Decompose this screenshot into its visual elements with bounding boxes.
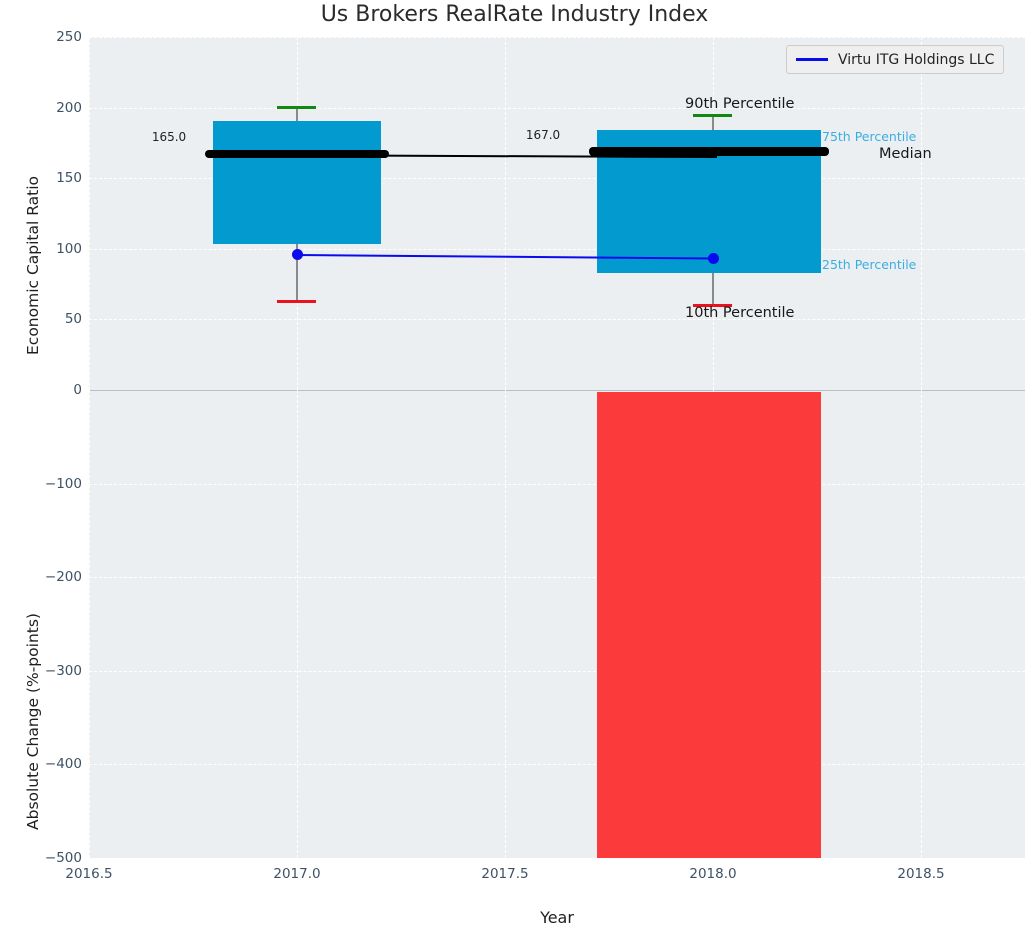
gridline-2017-5 — [505, 37, 506, 390]
y-axis-label-top: Economic Capital Ratio — [24, 176, 42, 355]
gridline-50 — [89, 319, 1025, 320]
company-point-2018[interactable] — [708, 253, 719, 264]
ytick-minus-500: −500 — [4, 850, 82, 866]
legend-line-swatch — [796, 58, 828, 61]
xtick-2018-5: 2018.5 — [861, 866, 981, 882]
gridline-minus-200 — [89, 577, 1025, 578]
legend[interactable]: Virtu ITG Holdings LLC — [786, 45, 1004, 74]
median-label-2018: 167.0 — [526, 128, 560, 142]
xtick-2016-5: 2016.5 — [29, 866, 149, 882]
ytick-150: 150 — [4, 170, 82, 186]
gridline-200 — [89, 108, 1025, 109]
gridline-b-2016-5 — [89, 390, 90, 858]
ytick-50: 50 — [4, 311, 82, 327]
economic-capital-ratio-panel — [89, 37, 1025, 390]
median-label-2017: 165.0 — [152, 130, 186, 144]
ytick-250: 250 — [4, 29, 82, 45]
xtick-2018-0: 2018.0 — [653, 866, 773, 882]
annotation-25th-percentile: 25th Percentile — [822, 257, 916, 272]
cap-90th-2018 — [693, 114, 732, 117]
ytick-minus-100: −100 — [4, 476, 82, 492]
legend-label-virtu-itg-holdings-llc: Virtu ITG Holdings LLC — [838, 52, 994, 68]
absolute-change-panel — [89, 390, 1025, 858]
ytick-200: 200 — [4, 100, 82, 116]
annotation-75th-percentile: 75th Percentile — [822, 129, 916, 144]
ytick-minus-200: −200 — [4, 569, 82, 585]
ytick-minus-300: −300 — [4, 663, 82, 679]
annotation-median: Median — [879, 146, 932, 162]
gridline-minus-300 — [89, 671, 1025, 672]
median-segment-2018 — [589, 147, 829, 156]
iqr-box-2017 — [213, 121, 381, 244]
annotation-90th-percentile: 90th Percentile — [685, 96, 794, 112]
annotation-10th-percentile: 10th Percentile — [685, 305, 794, 321]
gridline-b-2018-5 — [921, 390, 922, 858]
ytick-minus-400: −400 — [4, 756, 82, 772]
gridline-2016-5 — [89, 37, 90, 390]
gridline-b-2017-5 — [505, 390, 506, 858]
chart-figure: Us Brokers RealRate Industry Index — [0, 0, 1029, 942]
page-title: Us Brokers RealRate Industry Index — [0, 2, 1029, 27]
cap-90th-2017 — [277, 106, 316, 109]
gridline-100 — [89, 249, 1025, 250]
company-point-2017[interactable] — [292, 249, 303, 260]
gridline-2018-5 — [921, 37, 922, 390]
change-bar-2018-right — [709, 392, 821, 859]
gridline-minus-100 — [89, 484, 1025, 485]
gridline-minus-400 — [89, 764, 1025, 765]
gridline-250 — [89, 37, 1025, 38]
xtick-2017-5: 2017.5 — [445, 866, 565, 882]
y-axis-label-bottom: Absolute Change (%-points) — [24, 613, 42, 830]
zero-axis-line — [89, 390, 1025, 391]
xtick-2017-0: 2017.0 — [237, 866, 357, 882]
ytick-0: 0 — [4, 382, 82, 398]
x-axis-label: Year — [89, 908, 1025, 927]
median-segment-2017 — [205, 150, 389, 159]
cap-10th-2017 — [277, 300, 316, 303]
ytick-100: 100 — [4, 241, 82, 257]
gridline-b-2017-0 — [297, 390, 298, 858]
change-bar-2018 — [597, 392, 709, 859]
